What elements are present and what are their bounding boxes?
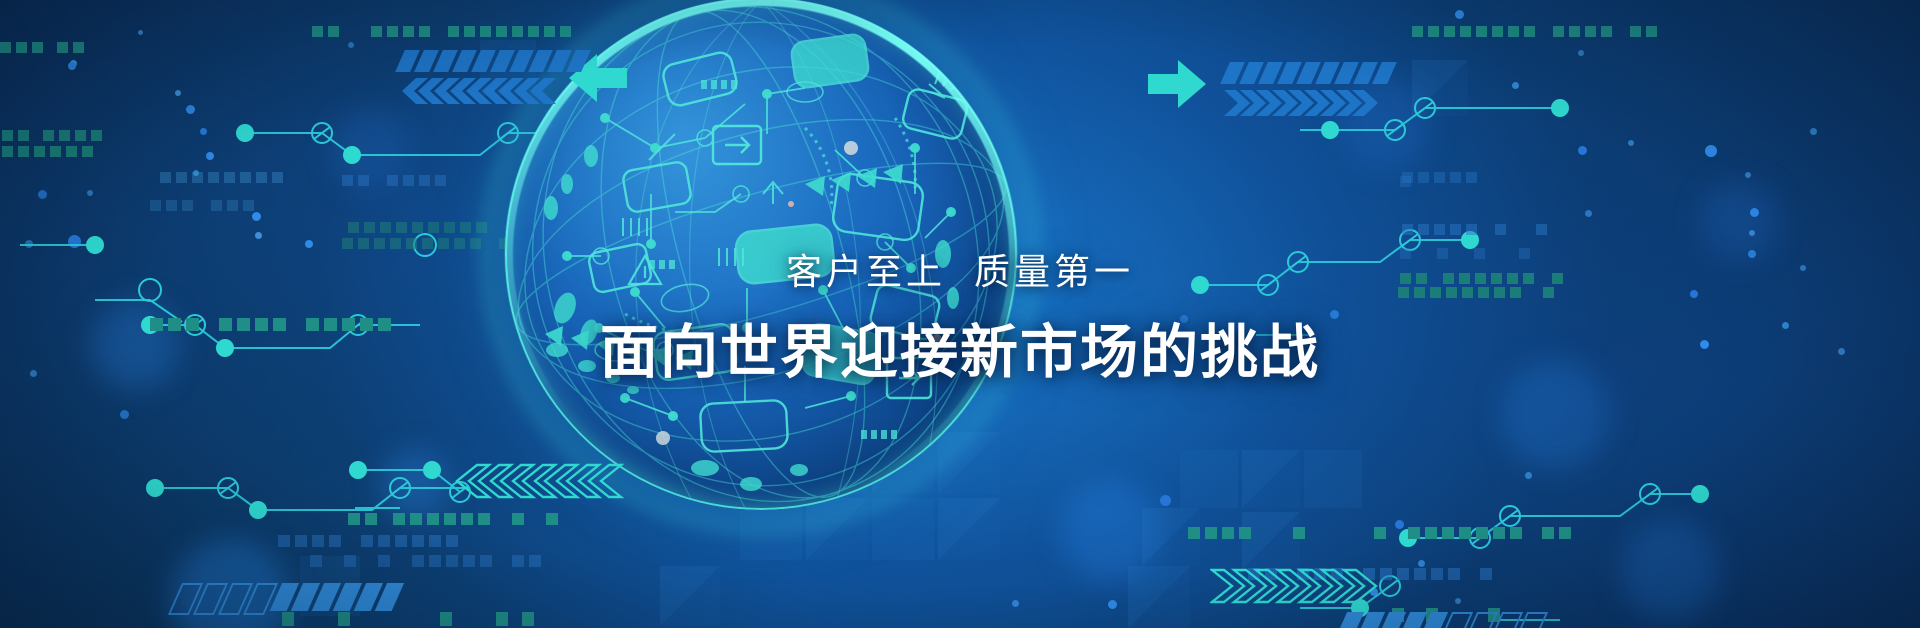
hero-subtitle: 客户至上 质量第一 (0, 243, 1920, 295)
hero-headline: 面向世界迎接新市场的挑战 (0, 305, 1920, 389)
chevron-right-group-bottom (1210, 568, 1395, 604)
hero-banner: 客户至上 质量第一 面向世界迎接新市场的挑战 (0, 0, 1920, 628)
slash-group-bottom-left (168, 583, 404, 615)
arrow-right-icon (1146, 58, 1208, 110)
slash-group-bottom-right (1333, 612, 1548, 628)
chevron-right-group (1222, 90, 1382, 116)
slash-group-top-right (1220, 62, 1397, 84)
